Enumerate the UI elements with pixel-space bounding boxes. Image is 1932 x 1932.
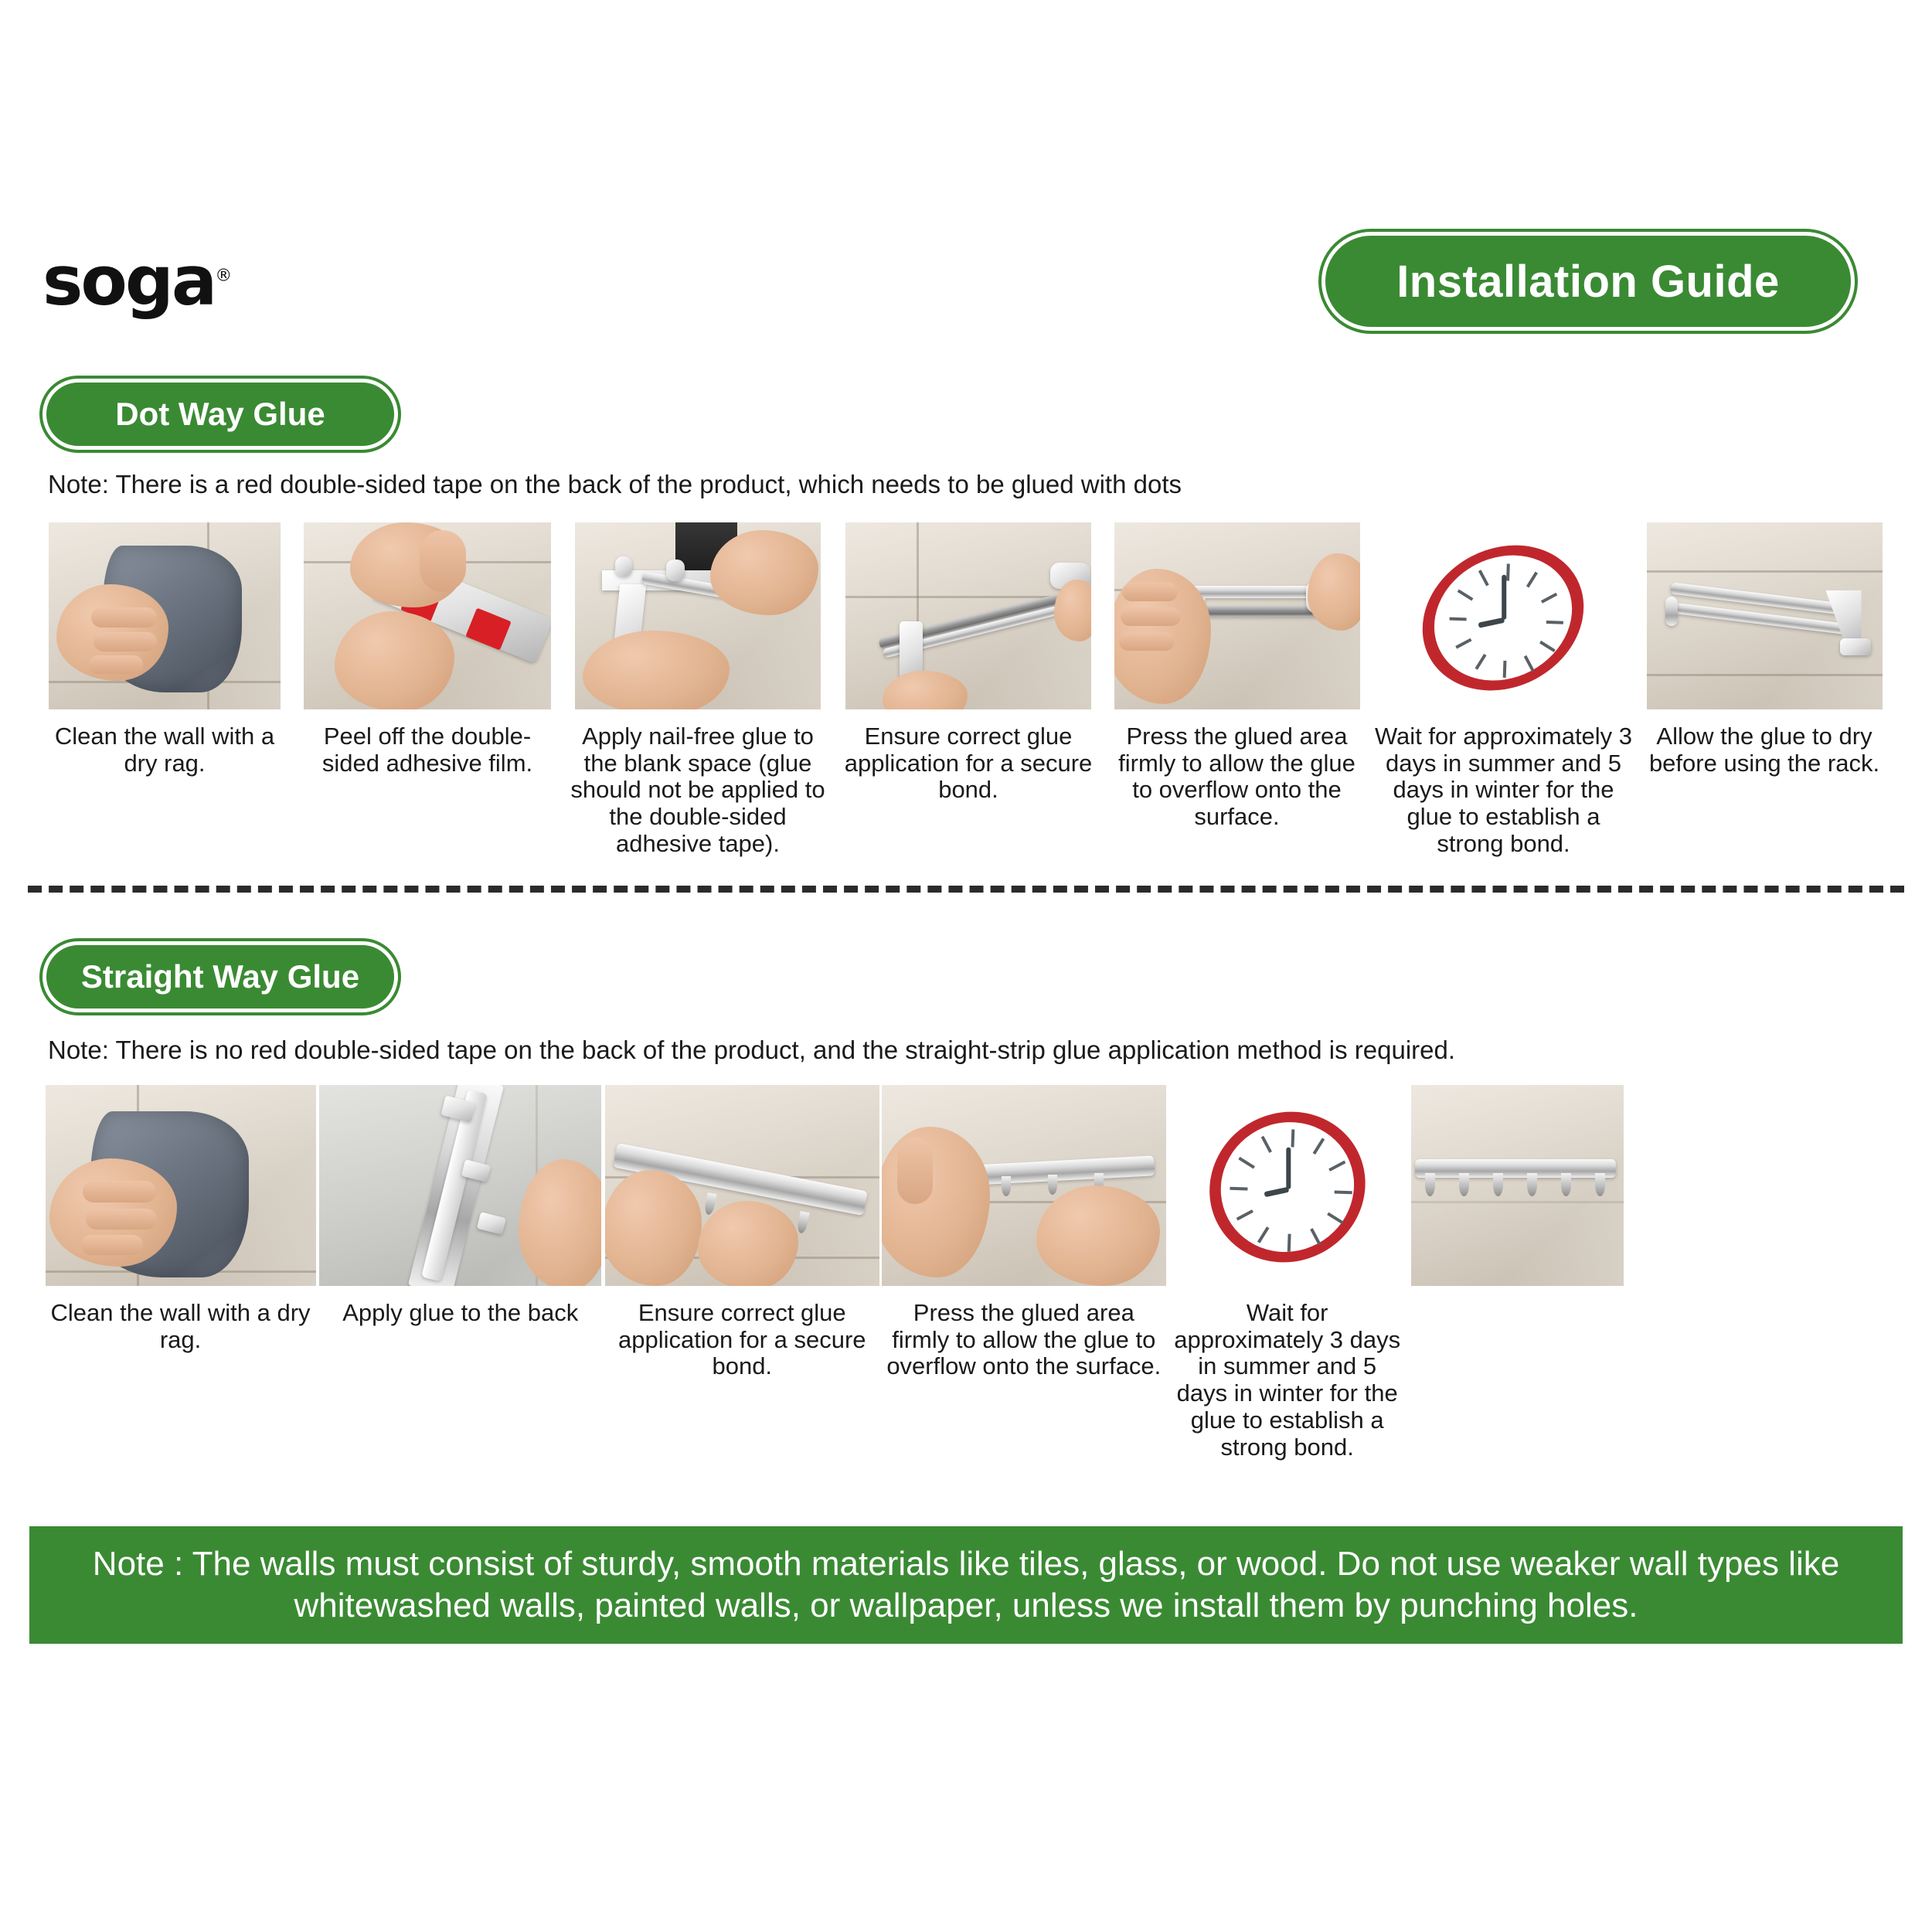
section-divider (28, 886, 1904, 893)
step-caption: Wait for approximately 3 days in summer … (1166, 1300, 1407, 1461)
brand-logo: soga® (43, 247, 232, 315)
step-image-clean-wall (49, 522, 281, 709)
step-image-correct-application (605, 1085, 879, 1286)
step-image-finished-hook-rail (1411, 1085, 1624, 1286)
step-image-apply-glue (575, 522, 821, 709)
clock-icon (1172, 1085, 1403, 1286)
installation-guide-page: soga® Installation Guide Dot Way Glue No… (0, 0, 1932, 1932)
step-image-press-firmly (882, 1085, 1166, 1286)
step-caption: Wait for approximately 3 days in summer … (1370, 723, 1637, 858)
steps-row-straight-way-glue: Clean the wall with a dry rag. Apply glu… (43, 1085, 1628, 1461)
clock-icon (1381, 522, 1627, 709)
section-badge-dot-way-glue: Dot Way Glue (43, 379, 398, 450)
step-image-clean-wall (46, 1085, 316, 1286)
step-image-waiting-clock (1172, 1085, 1403, 1286)
step-item: Peel off the double-sided adhesive film. (292, 522, 563, 777)
step-caption: Ensure correct glue application for a se… (603, 1300, 881, 1380)
registered-trademark-icon: ® (215, 267, 232, 286)
step-item: Wait for approximately 3 days in summer … (1370, 522, 1637, 858)
step-image-peel-tape (304, 522, 551, 709)
step-caption: Clean the wall with a dry rag. (37, 723, 292, 777)
step-caption: Clean the wall with a dry rag. (43, 1300, 318, 1353)
step-caption: Peel off the double-sided adhesive film. (292, 723, 563, 777)
step-item: Ensure correct glue application for a se… (603, 1085, 881, 1380)
step-caption: Press the glued area firmly to allow the… (1104, 723, 1370, 831)
step-item: Wait for approximately 3 days in summer … (1166, 1085, 1407, 1461)
installation-guide-badge: Installation Guide (1321, 232, 1855, 331)
step-caption: Apply nail-free glue to the blank space … (563, 723, 833, 858)
step-image-correct-application (845, 522, 1091, 709)
step-caption: Press the glued area firmly to allow the… (881, 1300, 1166, 1380)
section-note-straight-way-glue: Note: There is no red double-sided tape … (48, 1036, 1455, 1065)
step-item: Apply glue to the back (318, 1085, 603, 1327)
step-item: Allow the glue to dry before using the r… (1637, 522, 1892, 777)
step-caption: Apply glue to the back (339, 1300, 581, 1327)
step-image-press-firmly (1114, 522, 1360, 709)
step-item: Clean the wall with a dry rag. (43, 1085, 318, 1353)
step-item: Apply nail-free glue to the blank space … (563, 522, 833, 858)
step-item: Press the glued area firmly to allow the… (1104, 522, 1370, 831)
step-image-apply-glue-to-back (319, 1085, 601, 1286)
section-badge-straight-way-glue: Straight Way Glue (43, 941, 398, 1012)
step-item: Ensure correct glue application for a se… (833, 522, 1104, 804)
step-image-finished-rack (1647, 522, 1883, 709)
step-item: Clean the wall with a dry rag. (37, 522, 292, 777)
footer-warning-note: Note : The walls must consist of sturdy,… (29, 1526, 1903, 1644)
brand-logo-text: soga (43, 241, 215, 321)
step-caption: Allow the glue to dry before using the r… (1637, 723, 1892, 777)
step-item (1408, 1085, 1628, 1300)
step-caption: Ensure correct glue application for a se… (833, 723, 1104, 804)
step-item: Press the glued area firmly to allow the… (881, 1085, 1166, 1380)
steps-row-dot-way-glue: Clean the wall with a dry rag. Peel off … (37, 522, 1903, 858)
page-header: soga® Installation Guide (43, 232, 1855, 332)
step-image-waiting-clock (1381, 522, 1627, 709)
section-note-dot-way-glue: Note: There is a red double-sided tape o… (48, 470, 1182, 499)
